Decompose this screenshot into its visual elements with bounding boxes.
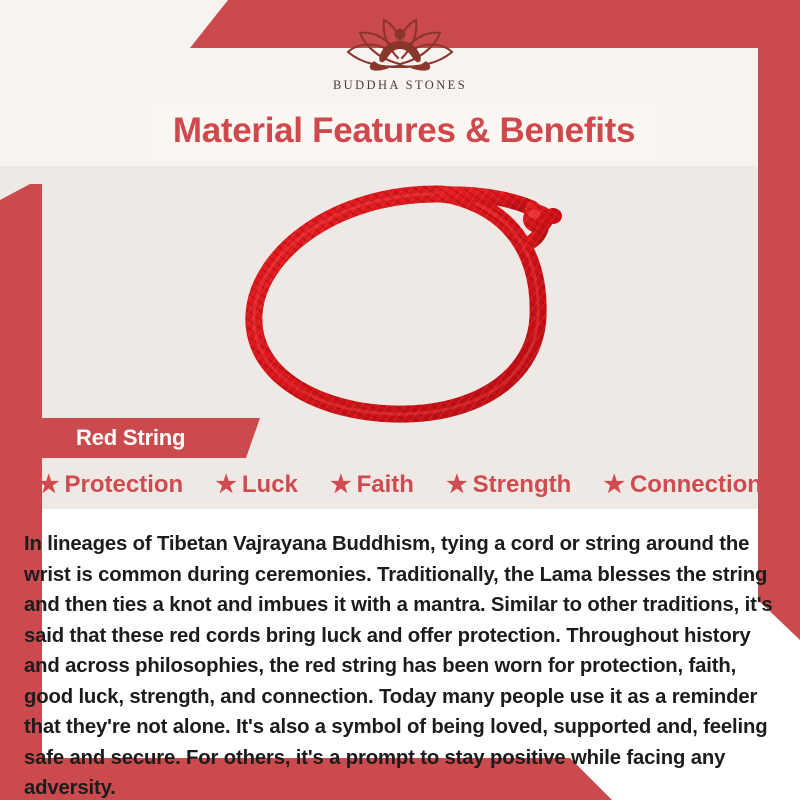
- feature-item-strength: ★ Strength: [446, 471, 571, 499]
- feature-item-connection: ★ Connection: [603, 471, 762, 499]
- feature-label: Faith: [357, 471, 414, 499]
- product-tag-label: Red String: [76, 425, 185, 451]
- brand-name: BUDDHA STONES: [333, 78, 467, 93]
- product-image-red-string-bracelet: [218, 166, 602, 428]
- feature-item-faith: ★ Faith: [330, 471, 414, 499]
- feature-item-protection: ★ Protection: [38, 471, 183, 499]
- feature-label: Luck: [242, 471, 298, 499]
- star-icon: ★: [446, 473, 468, 497]
- feature-label: Protection: [65, 471, 184, 499]
- title-banner: Material Features & Benefits: [152, 103, 656, 159]
- feature-list: ★ Protection ★ Luck ★ Faith ★ Strength ★…: [22, 466, 778, 504]
- lotus-meditation-icon: [326, 14, 474, 76]
- brand-logo: BUDDHA STONES: [0, 14, 800, 102]
- description-paragraph: In lineages of Tibetan Vajrayana Buddhis…: [24, 529, 776, 800]
- product-tag-banner: Red String: [28, 418, 260, 458]
- feature-label: Connection: [630, 471, 762, 499]
- star-icon: ★: [603, 473, 625, 497]
- infographic-page: BUDDHA STONES Material Features & Benefi…: [0, 0, 800, 800]
- feature-item-luck: ★ Luck: [215, 471, 298, 499]
- feature-label: Strength: [473, 471, 572, 499]
- page-title: Material Features & Benefits: [173, 111, 635, 151]
- star-icon: ★: [215, 473, 237, 497]
- star-icon: ★: [38, 473, 60, 497]
- star-icon: ★: [330, 473, 352, 497]
